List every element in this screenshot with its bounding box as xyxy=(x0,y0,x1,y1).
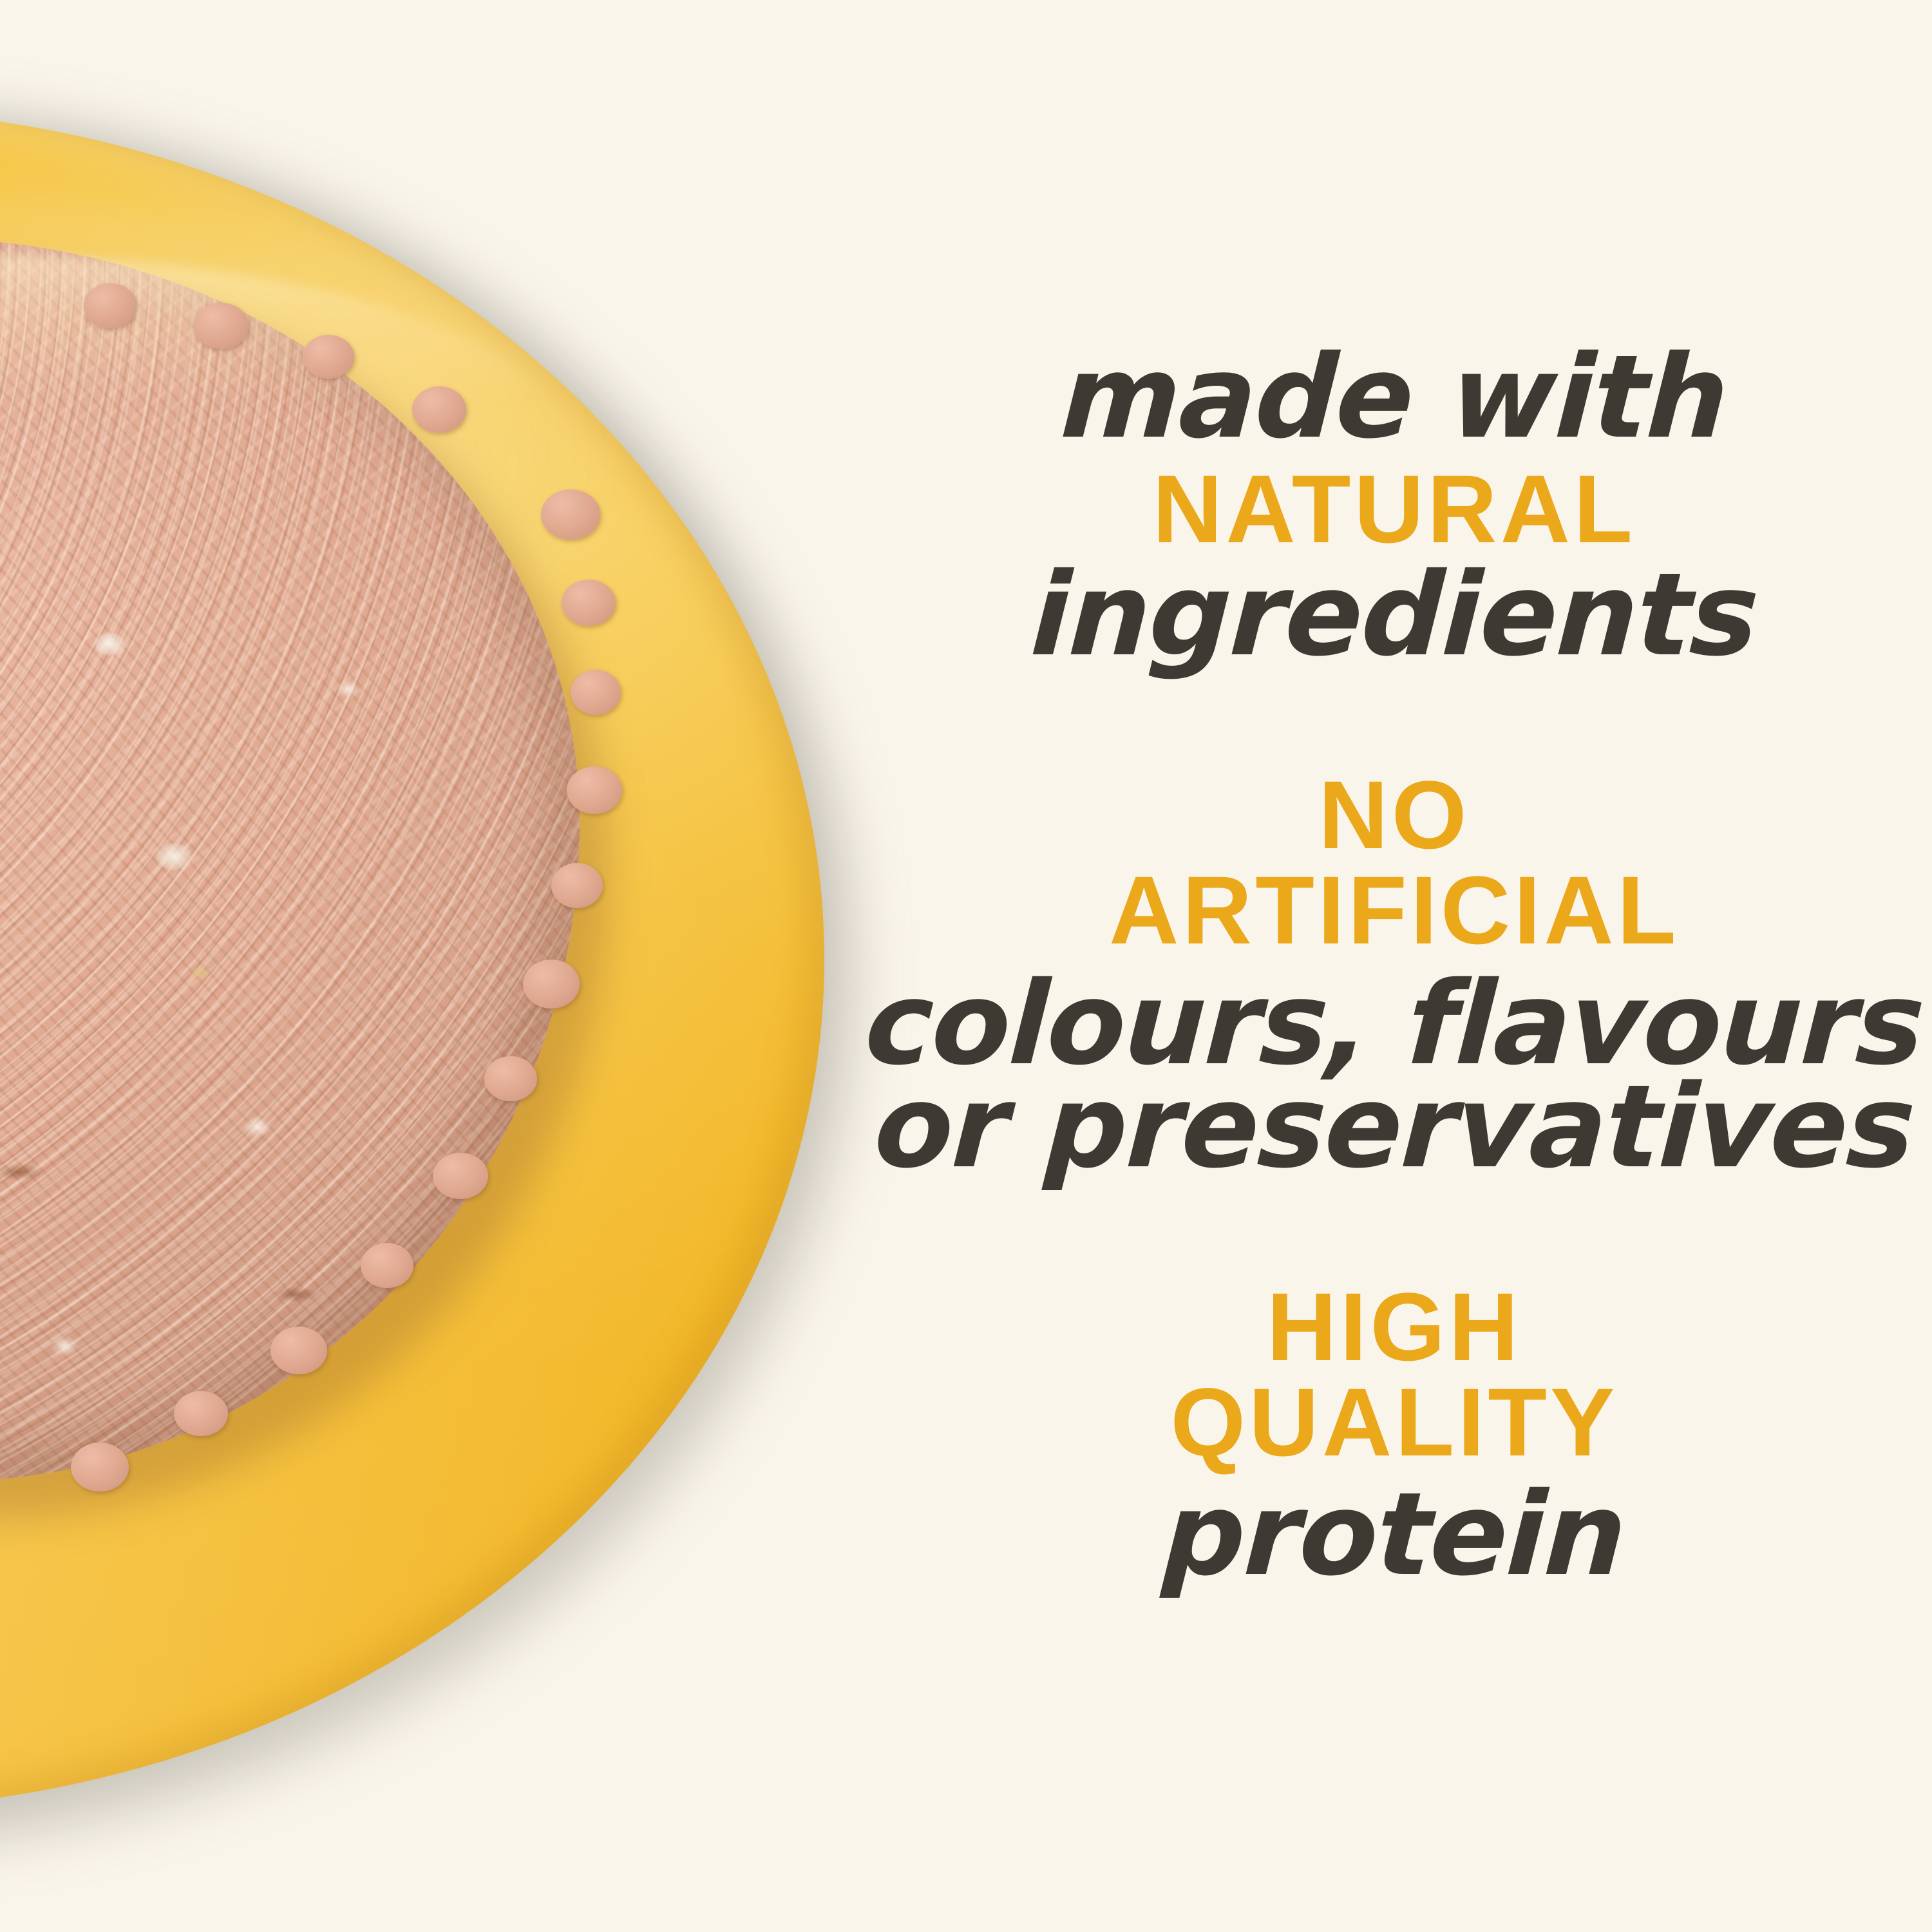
food-edge-lump xyxy=(84,283,137,328)
claim-1-line-3: ingredients xyxy=(853,559,1932,671)
food-edge-lump xyxy=(571,670,621,715)
food-edge-lump xyxy=(541,489,600,540)
claim-high-quality-protein: HIGH QUALITY protein xyxy=(857,1280,1932,1591)
food-edge-lump xyxy=(270,1327,327,1374)
food-edge-lump xyxy=(71,1443,129,1492)
claim-1-line-1: made with xyxy=(853,341,1932,453)
food-edge-lump xyxy=(523,960,580,1009)
food-edge-lump xyxy=(433,1153,488,1199)
food-edge-lump xyxy=(174,1391,228,1436)
food-edge-lump xyxy=(562,580,616,626)
claim-natural-ingredients: made with NATURAL ingredients xyxy=(857,341,1932,672)
claim-2-highlight-1: NO xyxy=(857,768,1932,861)
claim-2-highlight-2: ARTIFICIAL xyxy=(857,864,1932,956)
food-edge-lump xyxy=(484,1056,537,1101)
claim-no-artificial: NO ARTIFICIAL colours, flavours or prese… xyxy=(857,768,1932,1184)
food-edge-lump xyxy=(412,386,466,433)
food-edge-lump xyxy=(567,766,622,814)
benefit-claims-list: made with NATURAL ingredients NO ARTIFIC… xyxy=(857,0,1932,1932)
product-benefits-banner: made with NATURAL ingredients NO ARTIFIC… xyxy=(0,0,1932,1932)
claim-3-highlight-2: QUALITY xyxy=(857,1376,1932,1468)
food-edge-lump xyxy=(303,335,354,379)
claim-1-highlight: NATURAL xyxy=(857,462,1932,555)
claim-3-highlight-1: HIGH xyxy=(857,1280,1932,1373)
claim-2-line-4: or preservatives xyxy=(853,1071,1932,1183)
food-edge-lump xyxy=(361,1243,413,1288)
claim-3-line-3: protein xyxy=(853,1479,1932,1591)
food-edge-lump xyxy=(551,863,603,908)
food-edge-lump xyxy=(193,303,249,349)
